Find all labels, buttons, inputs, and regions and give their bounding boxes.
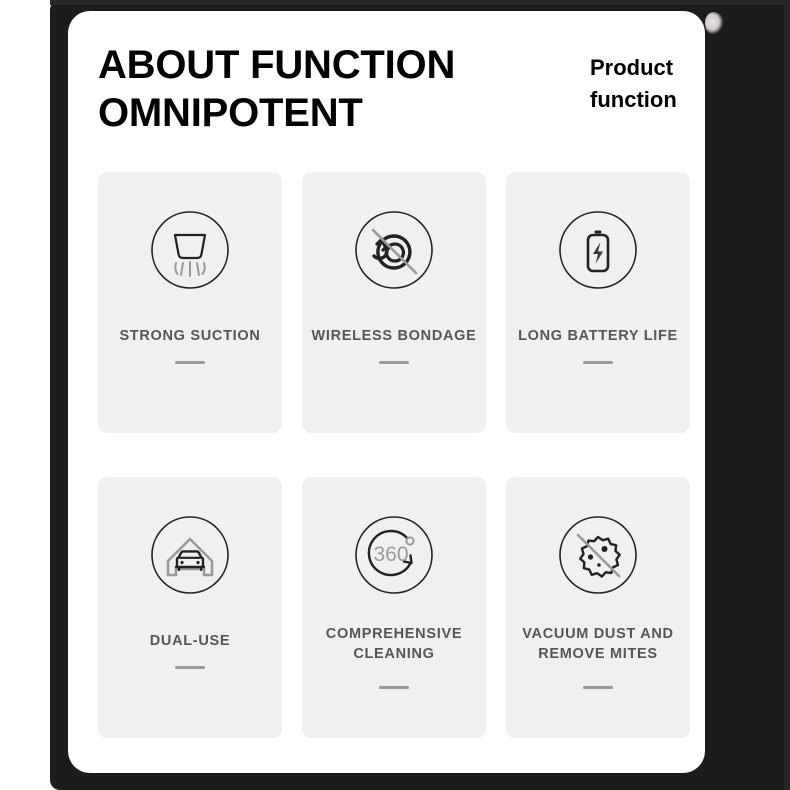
feature-card-wireless-bondage[interactable]: WIRELESS BONDAGE xyxy=(302,172,486,433)
feature-divider xyxy=(379,361,409,364)
car-garage-icon xyxy=(146,511,234,599)
bezel-right-edge xyxy=(784,0,790,790)
no-plug-wireless-icon xyxy=(350,206,438,294)
bezel-top-edge xyxy=(50,0,790,5)
feature-card-comprehensive-cleaning[interactable]: 360 COMPREHENSIVE CLEANING xyxy=(302,477,486,738)
section-label-line-2: function xyxy=(590,84,705,116)
feature-label: WIRELESS BONDAGE xyxy=(306,327,482,347)
feature-label-line-2: CLEANING xyxy=(353,646,434,662)
no-germ-mite-icon xyxy=(554,511,642,599)
suction-nozzle-icon xyxy=(146,206,234,294)
section-label-line-1: Product xyxy=(590,52,705,84)
page-title-line-2: OMNIPOTENT xyxy=(98,89,528,137)
feature-label: LONG BATTERY LIFE xyxy=(510,327,686,347)
feature-divider xyxy=(379,686,409,689)
feature-label-line-2: REMOVE MITES xyxy=(538,646,658,662)
feature-label: STRONG SUCTION xyxy=(102,327,278,347)
rotate-360-value: 360 xyxy=(373,543,408,566)
feature-label: VACUUM DUST AND REMOVE MITES xyxy=(510,625,686,664)
feature-card-strong-suction[interactable]: STRONG SUCTION xyxy=(98,172,282,433)
feature-label-line-1: DUAL-USE xyxy=(150,633,231,649)
battery-bolt-icon xyxy=(554,206,642,294)
feature-label-line-1: LONG BATTERY LIFE xyxy=(518,328,678,344)
page-title-line-1: ABOUT FUNCTION xyxy=(98,41,528,89)
feature-label-line-1: STRONG SUCTION xyxy=(119,328,260,344)
section-label: Product function xyxy=(590,52,705,116)
rotate-360-icon: 360 xyxy=(350,511,438,599)
feature-card-vacuum-dust-remove-mites[interactable]: VACUUM DUST AND REMOVE MITES xyxy=(506,477,690,738)
feature-label: DUAL-USE xyxy=(102,632,278,652)
feature-label-line-1: COMPREHENSIVE xyxy=(326,626,462,642)
feature-divider xyxy=(583,686,613,689)
feature-label: COMPREHENSIVE CLEANING xyxy=(306,625,482,664)
product-feature-page: ABOUT FUNCTION OMNIPOTENT Product functi… xyxy=(68,11,705,773)
page-header: ABOUT FUNCTION OMNIPOTENT Product functi… xyxy=(98,41,679,151)
page-title: ABOUT FUNCTION OMNIPOTENT xyxy=(98,41,528,137)
feature-divider xyxy=(175,666,205,669)
feature-card-dual-use[interactable]: DUAL-USE xyxy=(98,477,282,738)
feature-card-long-battery-life[interactable]: LONG BATTERY LIFE xyxy=(506,172,690,433)
feature-divider xyxy=(175,361,205,364)
feature-divider xyxy=(583,361,613,364)
feature-label-line-1: VACUUM DUST AND xyxy=(522,626,673,642)
feature-label-line-1: WIRELESS BONDAGE xyxy=(311,328,476,344)
feature-grid: STRONG SUCTION xyxy=(98,172,690,738)
